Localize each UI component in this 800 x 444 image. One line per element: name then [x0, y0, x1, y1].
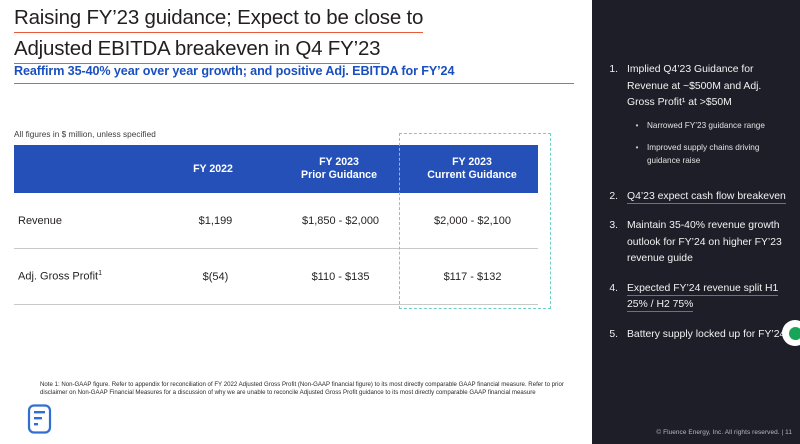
row-label-revenue: Revenue: [14, 215, 157, 227]
highlights-panel: 1. Implied Q4’23 Guidance for Revenue at…: [592, 0, 800, 444]
list-item: 5. Battery supply locked up for FY’24: [592, 327, 800, 344]
sub-list-item-text: Improved supply chains driving guidance …: [647, 141, 785, 167]
bullet-icon: •: [627, 119, 647, 132]
sub-list-item: • Narrowed FY’23 guidance range: [627, 119, 787, 132]
sub-list-item: • Improved supply chains driving guidanc…: [627, 141, 787, 167]
title-line-1: Raising FY’23 guidance; Expect to be clo…: [14, 5, 423, 33]
list-item-text: Expected FY’24 revenue split H1 25% / H2…: [627, 281, 787, 314]
list-item-number: 3.: [592, 218, 627, 268]
table-header-fy2023-prior: FY 2023 Prior Guidance: [272, 156, 406, 182]
table-header-fy2023-current: FY 2023 Current Guidance: [406, 156, 538, 182]
list-item: 3. Maintain 35-40% revenue growth outloo…: [592, 218, 800, 268]
cell-revenue-fy2022: $1,199: [157, 215, 274, 227]
cursor-badge-inner: [789, 327, 800, 340]
footnote-marker: 1: [98, 270, 102, 277]
sub-list: • Narrowed FY’23 guidance range • Improv…: [627, 119, 787, 167]
list-item-text: Maintain 35-40% revenue growth outlook f…: [627, 218, 787, 268]
list-item-number: 5.: [592, 327, 627, 344]
page-title: Raising FY’23 guidance; Expect to be clo…: [14, 5, 572, 64]
cell-agp-fy2023-prior: $110 - $135: [274, 271, 407, 283]
guidance-table: FY 2022 FY 2023 Prior Guidance FY 2023 C…: [14, 145, 538, 305]
list-item: 1. Implied Q4’23 Guidance for Revenue at…: [592, 62, 800, 176]
cell-revenue-fy2023-current: $2,000 - $2,100: [407, 215, 538, 227]
list-item-number: 2.: [592, 189, 627, 206]
cell-revenue-fy2023-prior: $1,850 - $2,000: [274, 215, 407, 227]
left-content-pane: Raising FY’23 guidance; Expect to be clo…: [0, 0, 592, 444]
table-row: Adj. Gross Profit1 $(54) $110 - $135 $11…: [14, 249, 538, 305]
units-note: All figures in $ million, unless specifi…: [14, 130, 156, 139]
cell-agp-fy2022: $(54): [157, 271, 274, 283]
list-item-text: Q4’23 expect cash flow breakeven: [627, 189, 787, 206]
fluence-logo: [27, 404, 53, 434]
cell-agp-fy2023-current: $117 - $132: [407, 271, 538, 283]
sub-list-item-text: Narrowed FY’23 guidance range: [647, 119, 785, 132]
title-line-2: Adjusted EBITDA breakeven in Q4 FY’23: [14, 36, 380, 64]
list-item: 4. Expected FY’24 revenue split H1 25% /…: [592, 281, 800, 314]
table-row: Revenue $1,199 $1,850 - $2,000 $2,000 - …: [14, 193, 538, 249]
list-item-number: 4.: [592, 281, 627, 314]
table-header-fy2022: FY 2022: [154, 163, 272, 176]
list-item-number: 1.: [592, 62, 627, 176]
row-label-adj-gross-profit: Adj. Gross Profit1: [14, 270, 157, 283]
table-header-row: FY 2022 FY 2023 Prior Guidance FY 2023 C…: [14, 145, 538, 193]
slide-canvas: Raising FY’23 guidance; Expect to be clo…: [0, 0, 800, 444]
footnote-text: Note 1: Non-GAAP figure. Refer to append…: [40, 381, 580, 397]
list-item: 2. Q4’23 expect cash flow breakeven: [592, 189, 800, 206]
list-item-text: Implied Q4’23 Guidance for Revenue at ~$…: [627, 62, 787, 176]
bullet-icon: •: [627, 141, 647, 167]
page-subtitle: Reaffirm 35-40% year over year growth; a…: [14, 64, 574, 84]
highlights-list: 1. Implied Q4’23 Guidance for Revenue at…: [592, 62, 800, 356]
list-item-text: Battery supply locked up for FY’24: [627, 327, 787, 344]
copyright-text: © Fluence Energy, Inc. All rights reserv…: [592, 429, 792, 436]
